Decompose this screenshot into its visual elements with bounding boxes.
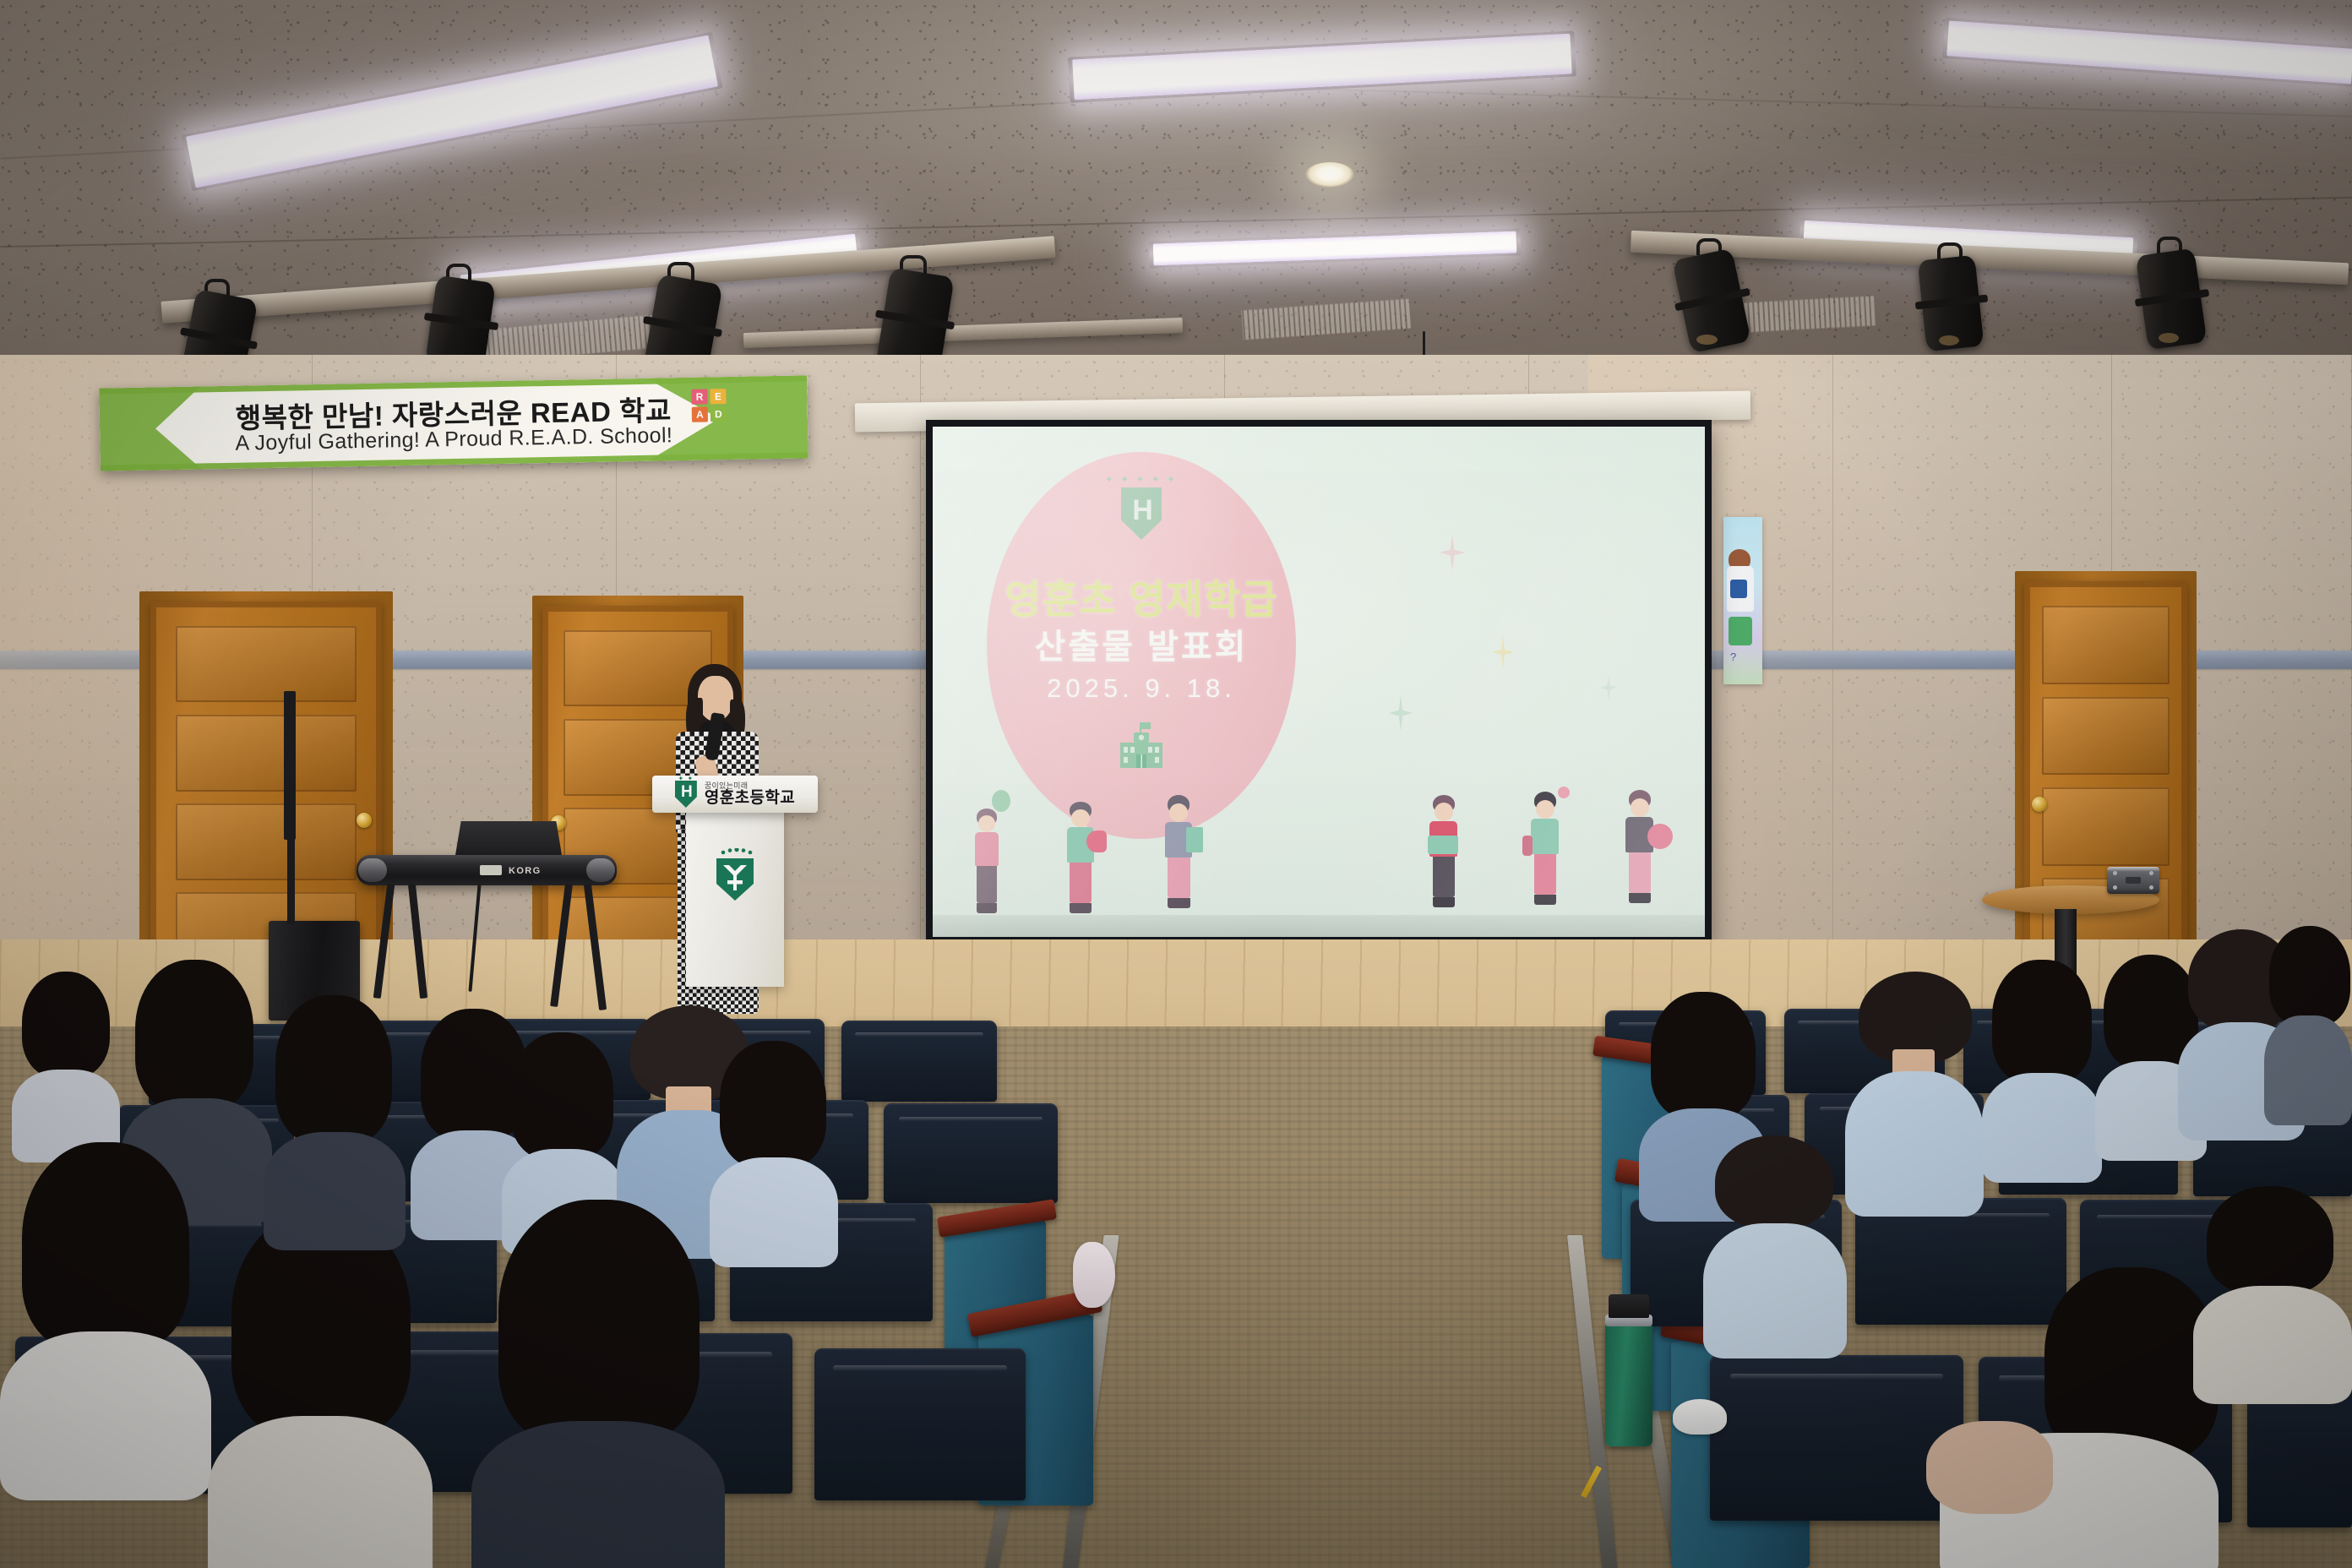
audience-member [471,1200,725,1568]
auditorium-seat[interactable] [1710,1355,1963,1521]
bottle-cap [1609,1294,1649,1318]
water-bottle [1605,1323,1652,1446]
audience-member [1982,960,2102,1171]
podium-school-name: 영훈초등학교 [705,790,795,806]
slide-crest-letter: H [1121,496,1162,525]
keyboard-brand-label: KORG [509,866,542,876]
slide-figure-ball [1619,790,1669,920]
podium-crest: ✦ ✦ ✦ ✦ ✦ H [675,781,697,808]
podium-body-crest [711,848,759,904]
projection-screen-frame: ✦ ✦ ✦ ✦ ✦ H 영훈초 영재학급 산출물 발표회 2025. 9. 18… [926,420,1712,944]
audience-member [2193,1186,2352,1380]
keyboard-display [480,865,502,875]
slide-oval: ✦ ✦ ✦ ✦ ✦ H 영훈초 영재학급 산출물 발표회 2025. 9. 18… [987,452,1296,839]
slide-date: 2025. 9. 18. [987,673,1296,704]
auditorium-seat[interactable] [814,1348,1026,1500]
slide-figure-fan [1061,802,1105,920]
slide-figure-balloon [968,808,1007,917]
slide-subtitle: 산출물 발표회 [987,619,1296,668]
projection-screen: ✦ ✦ ✦ ✦ ✦ H 영훈초 영재학급 산출물 발표회 2025. 9. 18… [933,427,1705,937]
event-banner: 행복한 만남! 자랑스러운 READ 학교 A Joyful Gathering… [99,375,808,471]
slide-figure-brush [1524,792,1570,920]
read-logo-d: D [710,406,727,422]
speaker-stand-pole [284,691,296,840]
auditorium-scene: ? 행복한 만남! 자랑스러운 READ 학교 A Joyful Gatheri… [0,0,2352,1568]
auditorium-seat[interactable] [884,1103,1058,1203]
wall-poster: ? [1723,517,1762,684]
bluetooth-speaker[interactable] [2107,867,2159,894]
read-logo: R E A D [691,389,727,422]
ceiling [0,0,2352,397]
slide-figure-books [1157,795,1205,920]
audience-member [264,995,406,1225]
audience-member [12,972,120,1149]
audience-member [2264,926,2352,1112]
audience-member [0,1142,211,1480]
white-bag [1073,1242,1115,1308]
speaker-stand-pole [287,836,295,924]
audience-arm [1926,1421,2053,1514]
audience-member [612,1007,732,1176]
podium-crest-letter: H [675,781,697,808]
podium-column [686,784,784,987]
white-sandal [1673,1399,1727,1435]
read-logo-r: R [691,389,707,404]
slide-title: 영훈초 영재학급 [987,567,1296,625]
audience-member [1845,972,1984,1205]
audience-member [1703,1135,1847,1347]
auditorium-seat[interactable] [841,1021,997,1102]
audience-member [208,1211,433,1566]
stage-keyboard[interactable]: KORG [357,855,617,885]
slide-crest-stars: ✦ ✦ ✦ ✦ ✦ [1105,474,1177,485]
slide-figure-reading [1423,795,1468,920]
audience-member [1940,1267,2219,1568]
recessed-downlight [1305,162,1354,188]
podium-nameplate: ✦ ✦ ✦ ✦ ✦ H 꿈이있는미래 영훈초등학교 [652,776,818,813]
door-right[interactable] [2024,581,2187,994]
school-building-icon [1115,721,1168,773]
read-logo-e: E [710,389,726,404]
read-logo-a: A [692,406,708,422]
